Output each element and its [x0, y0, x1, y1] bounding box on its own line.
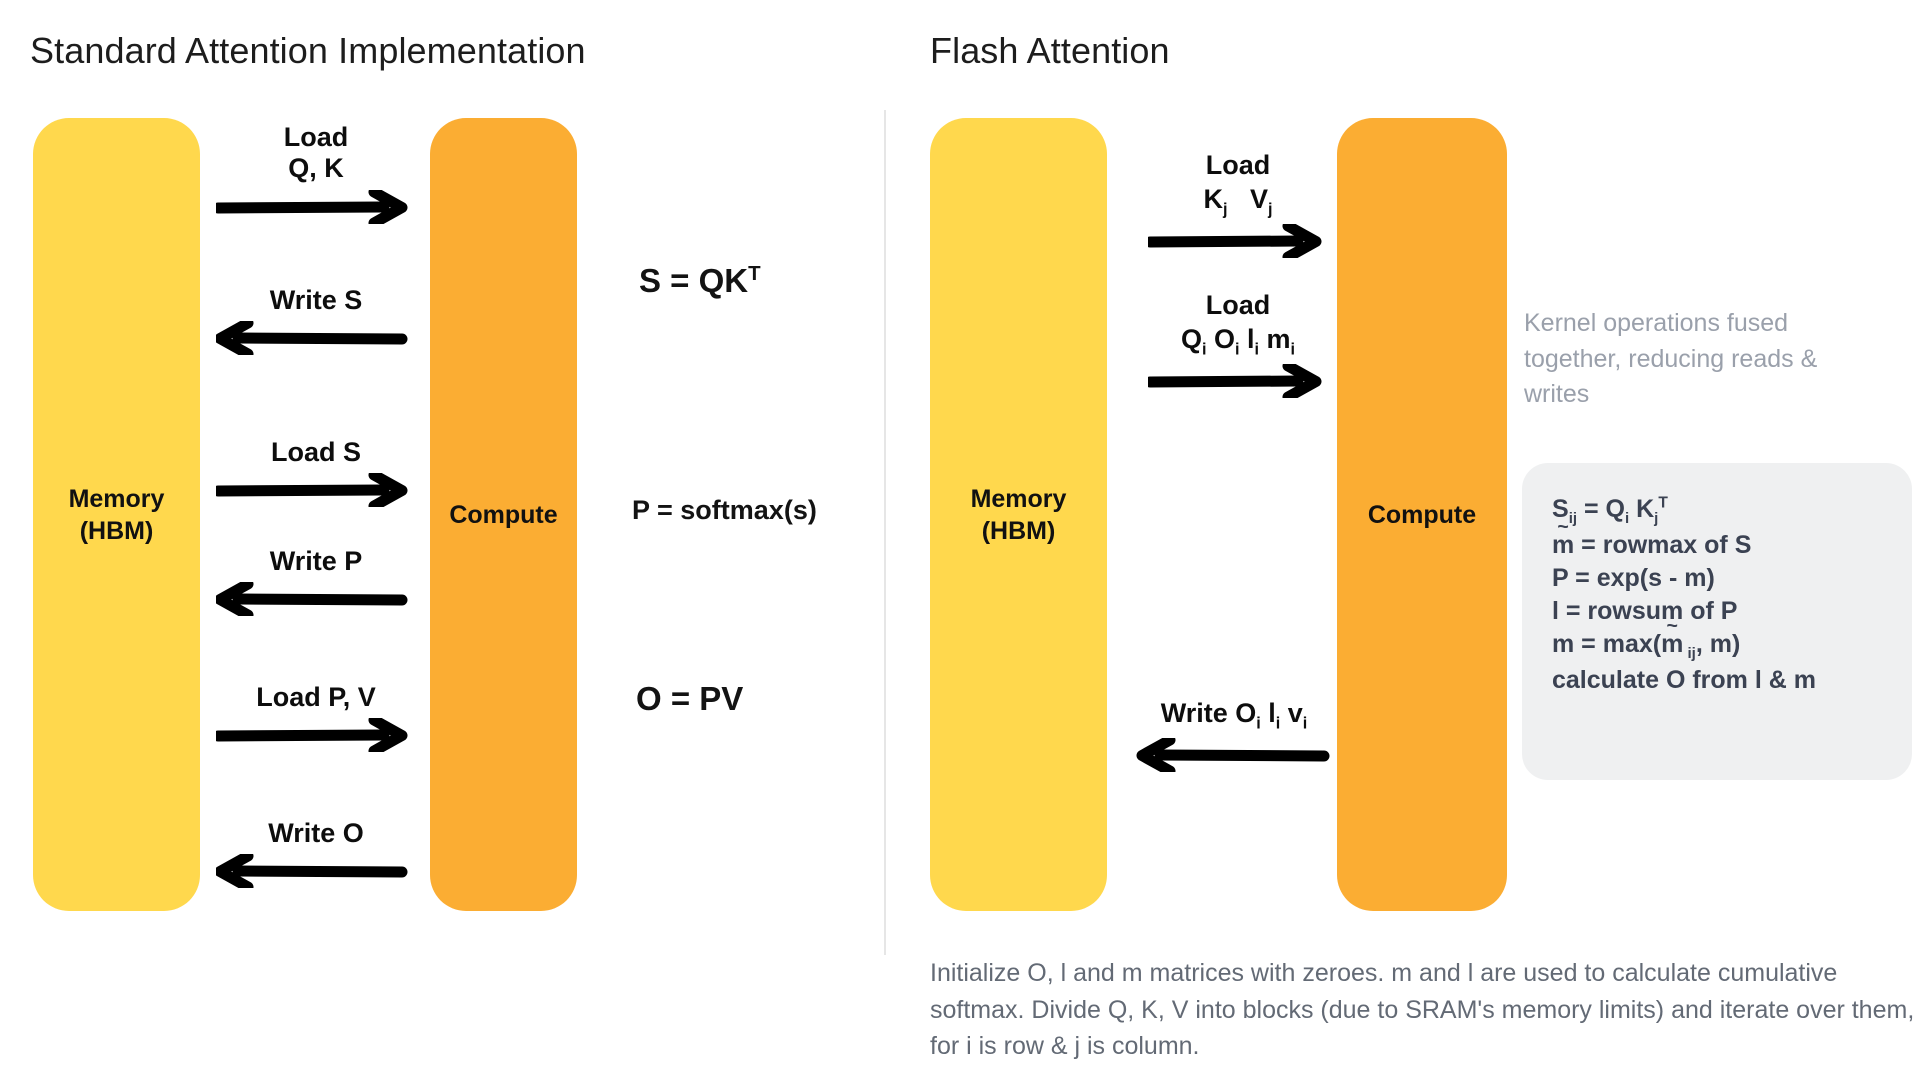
- formula-s-base: S = QK: [639, 262, 748, 299]
- arrow-left-icon: [1134, 738, 1334, 772]
- arrow-group-load-kj-vj: Load Kj Vj: [1148, 150, 1328, 258]
- compute-bar-right: Compute: [1337, 118, 1507, 911]
- formula-p-equals-softmax: P = softmax(s): [632, 495, 817, 526]
- formula-p-base: P = softmax(s): [632, 495, 817, 525]
- arrow-label-load-kj-vj-sym: Kj Vj: [1148, 184, 1328, 219]
- arrow-right-icon: [1148, 364, 1328, 398]
- arrow-label-write-oi-li-vi: Write Oi li vi: [1134, 698, 1334, 733]
- formula-line-rowsum: l = rowsum of P: [1552, 595, 1912, 628]
- arrow-group-write-oi-li-vi: Write Oi li vi: [1134, 698, 1334, 772]
- flash-attention-caption: Initialize O, l and m matrices with zero…: [930, 955, 1915, 1065]
- arrow-group-load-qi-oi-li-mi: Load Qi Oi li mi: [1148, 290, 1328, 398]
- formula-o-equals-pv: O = PV: [636, 680, 743, 718]
- arrow-right-icon: [1148, 224, 1328, 258]
- arrow-label-load-kj-vj-top: Load: [1148, 150, 1328, 181]
- formula-s-superscript: T: [748, 262, 760, 285]
- panel-title-standard-attention: Standard Attention Implementation: [30, 30, 586, 72]
- formula-line-max: m = max(~m ij, m): [1552, 628, 1912, 664]
- arrow-right-icon: [216, 473, 416, 507]
- formula-s-equals-qkt: S = QKT: [639, 262, 761, 300]
- arrow-group-write-s: Write S: [216, 285, 416, 355]
- arrow-label-write-p: Write P: [216, 546, 416, 577]
- formula-line-sij: Sij = Qi KjT: [1552, 493, 1912, 529]
- arrow-left-icon: [216, 321, 416, 355]
- arrow-group-write-o: Write O: [216, 818, 416, 888]
- kernel-operations-note: Kernel operations fused together, reduci…: [1524, 306, 1874, 413]
- memory-bar-left-label: Memory (HBM): [69, 483, 165, 547]
- arrow-left-icon: [216, 582, 416, 616]
- formula-o-base: O = PV: [636, 680, 743, 717]
- arrow-group-load-s: Load S: [216, 437, 416, 507]
- compute-bar-right-label: Compute: [1368, 499, 1476, 531]
- arrow-label-load-qi-top: Load: [1148, 290, 1328, 321]
- formula-line-exp: P = exp(s - m): [1552, 562, 1912, 595]
- arrow-group-write-p: Write P: [216, 546, 416, 616]
- arrow-right-icon: [216, 190, 416, 224]
- memory-bar-left: Memory (HBM): [33, 118, 200, 911]
- compute-bar-left: Compute: [430, 118, 577, 911]
- arrow-label-load-pv: Load P, V: [216, 682, 416, 713]
- compute-bar-left-label: Compute: [449, 499, 557, 531]
- arrow-label-load-s: Load S: [216, 437, 416, 468]
- arrow-label-write-o: Write O: [216, 818, 416, 849]
- formula-line-calculate-o: calculate O from l & m: [1552, 664, 1912, 697]
- formula-line-rowmax: ~m = rowmax of S: [1552, 529, 1912, 562]
- arrow-group-load-qk: Load Q, K: [216, 122, 416, 224]
- arrow-right-icon: [216, 718, 416, 752]
- diagram-canvas: Standard Attention Implementation Flash …: [0, 0, 1920, 1080]
- arrow-label-load-qi-sym: Qi Oi li mi: [1148, 324, 1328, 359]
- formula-list: Sij = Qi KjT ~m = rowmax of S P = exp(s …: [1552, 493, 1912, 697]
- arrow-group-load-pv: Load P, V: [216, 682, 416, 752]
- flash-attention-formula-card: Sij = Qi KjT ~m = rowmax of S P = exp(s …: [1522, 463, 1912, 780]
- memory-bar-right-label: Memory (HBM): [971, 483, 1067, 547]
- panel-divider: [884, 110, 886, 955]
- memory-bar-right: Memory (HBM): [930, 118, 1107, 911]
- panel-title-flash-attention: Flash Attention: [930, 30, 1170, 72]
- arrow-label-write-s: Write S: [216, 285, 416, 316]
- arrow-label-load-qk: Load Q, K: [216, 122, 416, 185]
- arrow-left-icon: [216, 854, 416, 888]
